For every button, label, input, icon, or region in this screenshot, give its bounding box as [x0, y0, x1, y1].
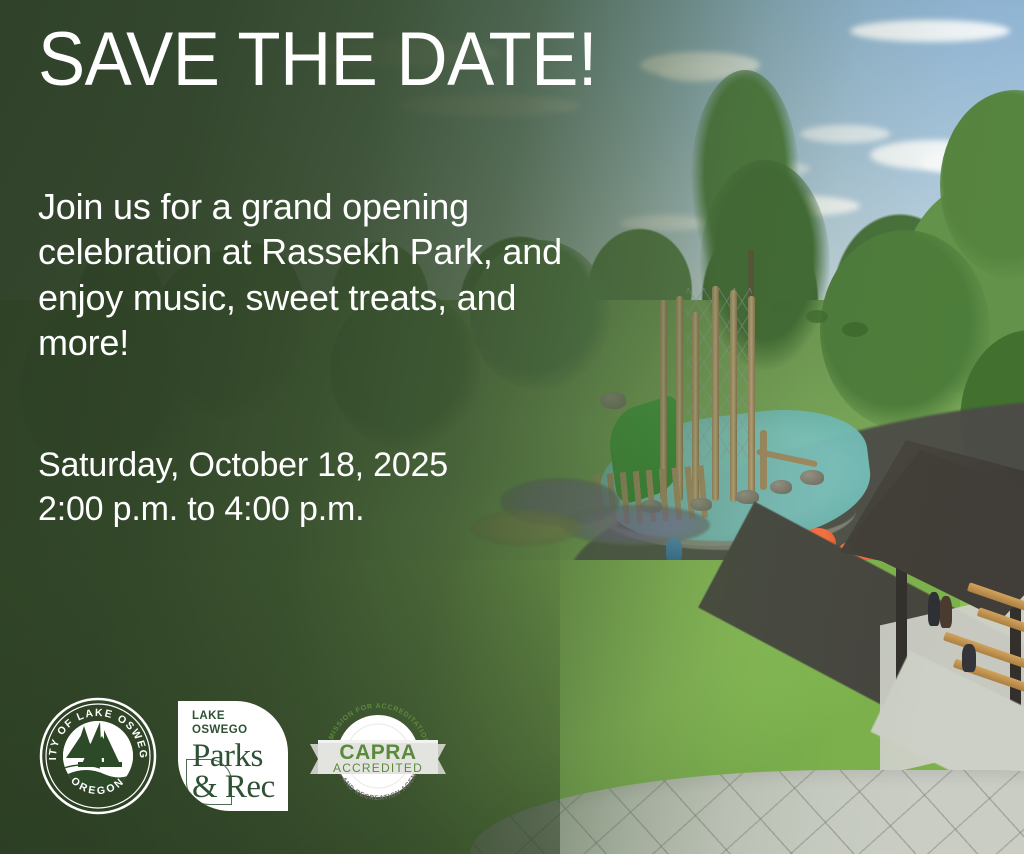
- parksrec-line-2: OSWEGO: [192, 724, 288, 737]
- capra-accredited-badge: COMMISSION FOR ACCREDITATION OF PARK AND…: [308, 700, 448, 812]
- lake-oswego-parks-and-rec-logo: LAKE OSWEGO Parks & Rec: [178, 701, 288, 811]
- city-of-lake-oswego-seal: CITY OF LAKE OSWEGO OREGON: [38, 696, 158, 816]
- event-datetime: Saturday, October 18, 2025 2:00 p.m. to …: [38, 443, 448, 531]
- parksrec-line-1: LAKE: [192, 710, 288, 723]
- event-description: Join us for a grand opening celebration …: [38, 184, 598, 365]
- capra-badge-icon: COMMISSION FOR ACCREDITATION OF PARK AND…: [308, 700, 448, 812]
- event-date: Saturday, October 18, 2025: [38, 443, 448, 487]
- event-time: 2:00 p.m. to 4:00 p.m.: [38, 487, 448, 531]
- save-the-date-poster: SAVE THE DATE! Join us for a grand openi…: [0, 0, 1024, 854]
- page-title: SAVE THE DATE!: [38, 22, 597, 98]
- capra-ribbon-sub: ACCREDITED: [333, 761, 423, 775]
- poster-content: SAVE THE DATE! Join us for a grand openi…: [0, 0, 1024, 854]
- parksrec-word-rec: & Rec: [192, 772, 288, 803]
- city-seal-icon: CITY OF LAKE OSWEGO OREGON: [38, 696, 158, 816]
- logo-row: CITY OF LAKE OSWEGO OREGON LAKE OSWEGO P…: [38, 696, 448, 816]
